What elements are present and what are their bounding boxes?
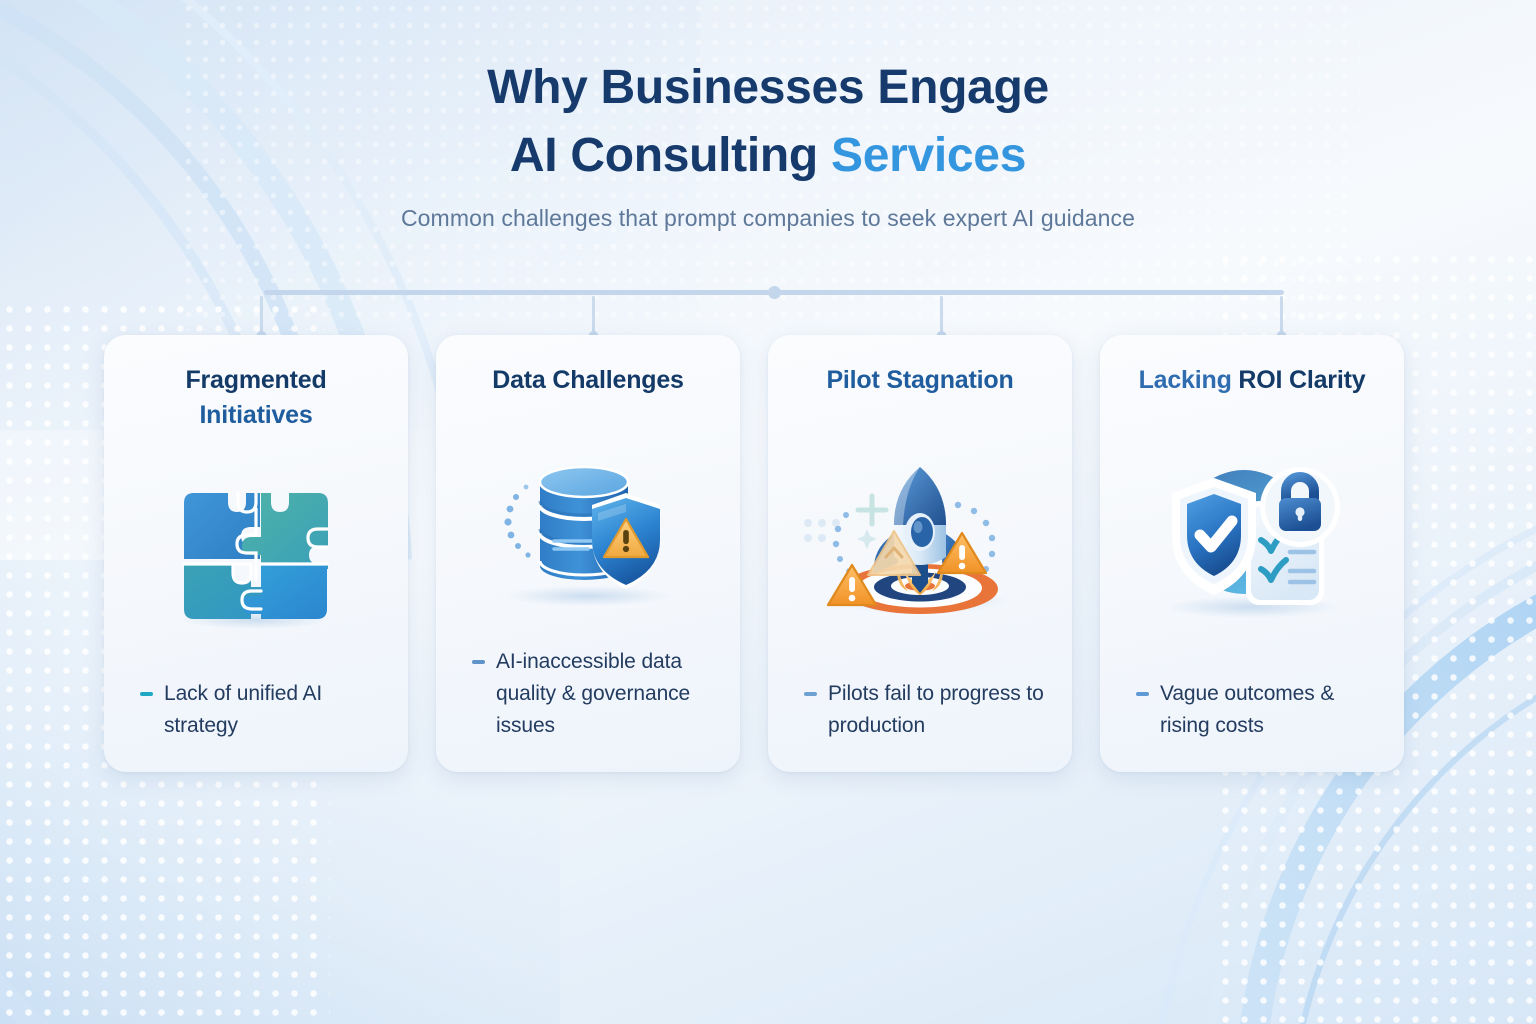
connector-drop-4: [1280, 296, 1283, 334]
title-main-text: AI Consulting: [510, 129, 831, 182]
card-icon-wrap: [458, 400, 718, 647]
card-icon-wrap: [1122, 400, 1382, 679]
card-title-part-1: Data Challenges: [492, 366, 684, 394]
card-icon-wrap: [126, 434, 386, 678]
connector-hub-dot: [768, 286, 781, 299]
card-title: Data Challenges: [458, 363, 718, 398]
puzzle-pieces-icon: [166, 481, 346, 631]
connector-rail: [264, 288, 1284, 340]
page-title: Why Businesses Engage AI Consulting Serv…: [0, 54, 1536, 190]
page-subtitle: Common challenges that prompt companies …: [0, 205, 1536, 232]
card-title: Pilot Stagnation: [790, 363, 1050, 398]
card-bullet: Lack of unified AI strategy: [126, 678, 386, 772]
title-line-2: AI Consulting Services: [0, 122, 1536, 190]
card-title-part-1: Pilot Stagnation: [826, 366, 1013, 394]
card-icon-wrap: [790, 400, 1050, 679]
card-bullet-text: Vague outcomes & rising costs: [1160, 678, 1378, 742]
card-bullet-text: AI-inaccessible data quality & governanc…: [496, 646, 714, 742]
card-title-part-2: ROI Clarity: [1238, 366, 1365, 394]
bullet-dash-icon: [804, 692, 817, 696]
connector-drop-1: [260, 296, 263, 334]
shield-check-lock-checklist-icon: [1132, 449, 1372, 629]
card-fragmented-initiatives[interactable]: Fragmented Initiatives: [104, 335, 408, 772]
connector-drop-2: [592, 296, 595, 334]
card-title: Fragmented Initiatives: [126, 363, 386, 432]
card-bullet: AI-inaccessible data quality & governanc…: [458, 646, 718, 772]
bullet-dash-icon: [472, 660, 485, 664]
card-bullet-text: Lack of unified AI strategy: [164, 678, 382, 742]
connector-drop-3: [940, 296, 943, 334]
card-bullet: Vague outcomes & rising costs: [1122, 678, 1382, 772]
card-bullet-text: Pilots fail to progress to production: [828, 678, 1046, 742]
card-lacking-roi-clarity[interactable]: Lacking ROI Clarity: [1100, 335, 1404, 772]
title-accent-text: Services: [831, 129, 1026, 182]
card-title-part-1: Fragmented: [185, 366, 326, 394]
infographic-canvas: Why Businesses Engage AI Consulting Serv…: [0, 0, 1536, 1024]
title-line-1: Why Businesses Engage: [0, 54, 1536, 122]
card-title-part-2: Initiatives: [199, 401, 312, 429]
card-bullet: Pilots fail to progress to production: [790, 678, 1050, 772]
bullet-dash-icon: [140, 692, 153, 696]
header: Why Businesses Engage AI Consulting Serv…: [0, 54, 1536, 232]
bullet-dash-icon: [1136, 692, 1149, 696]
card-pilot-stagnation[interactable]: Pilot Stagnation: [768, 335, 1072, 772]
card-data-challenges[interactable]: Data Challenges: [436, 335, 740, 772]
card-title-part-1: Lacking: [1139, 366, 1239, 394]
card-row: Fragmented Initiatives: [104, 335, 1432, 772]
database-warning-shield-icon: [478, 435, 698, 610]
rocket-target-warning-icon: [800, 449, 1040, 629]
card-title: Lacking ROI Clarity: [1122, 363, 1382, 398]
